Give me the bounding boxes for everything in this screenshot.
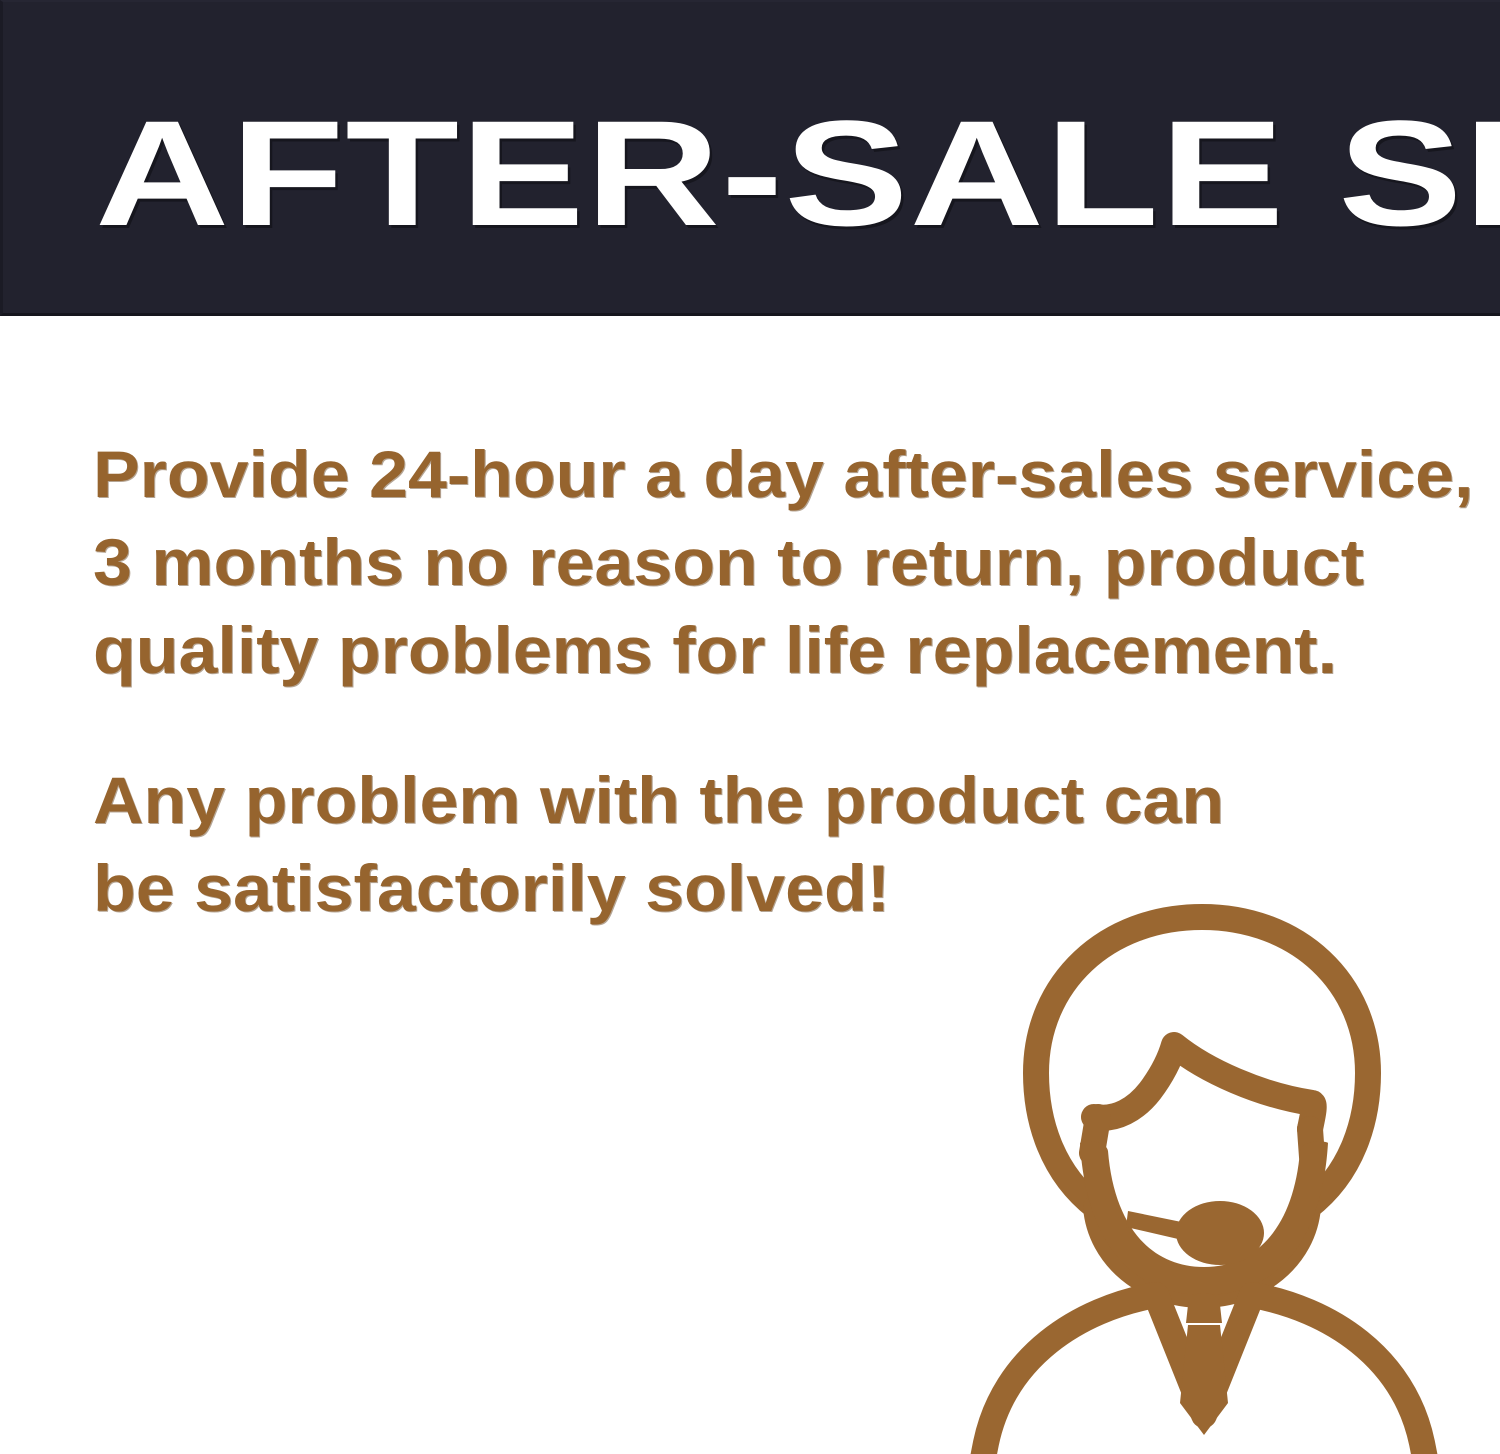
body-copy: Provide 24-hour a day after-sales servic… bbox=[93, 430, 1433, 932]
paragraph-line: Any problem with the product can bbox=[93, 756, 1500, 844]
page-title: AFTER-SALE SERVICE bbox=[95, 98, 1500, 248]
paragraph-line: 3 months no reason to return, product bbox=[93, 518, 1500, 606]
paragraph-line: Provide 24-hour a day after-sales servic… bbox=[93, 430, 1500, 518]
paragraph-service-promise: Provide 24-hour a day after-sales servic… bbox=[93, 430, 1500, 694]
paragraph-line: quality problems for life replacement. bbox=[93, 606, 1500, 694]
after-sale-service-banner-page: AFTER-SALE SERVICE Provide 24-hour a day… bbox=[0, 0, 1500, 1454]
customer-service-agent-headset-icon bbox=[960, 895, 1450, 1454]
header-banner: AFTER-SALE SERVICE bbox=[0, 0, 1500, 316]
